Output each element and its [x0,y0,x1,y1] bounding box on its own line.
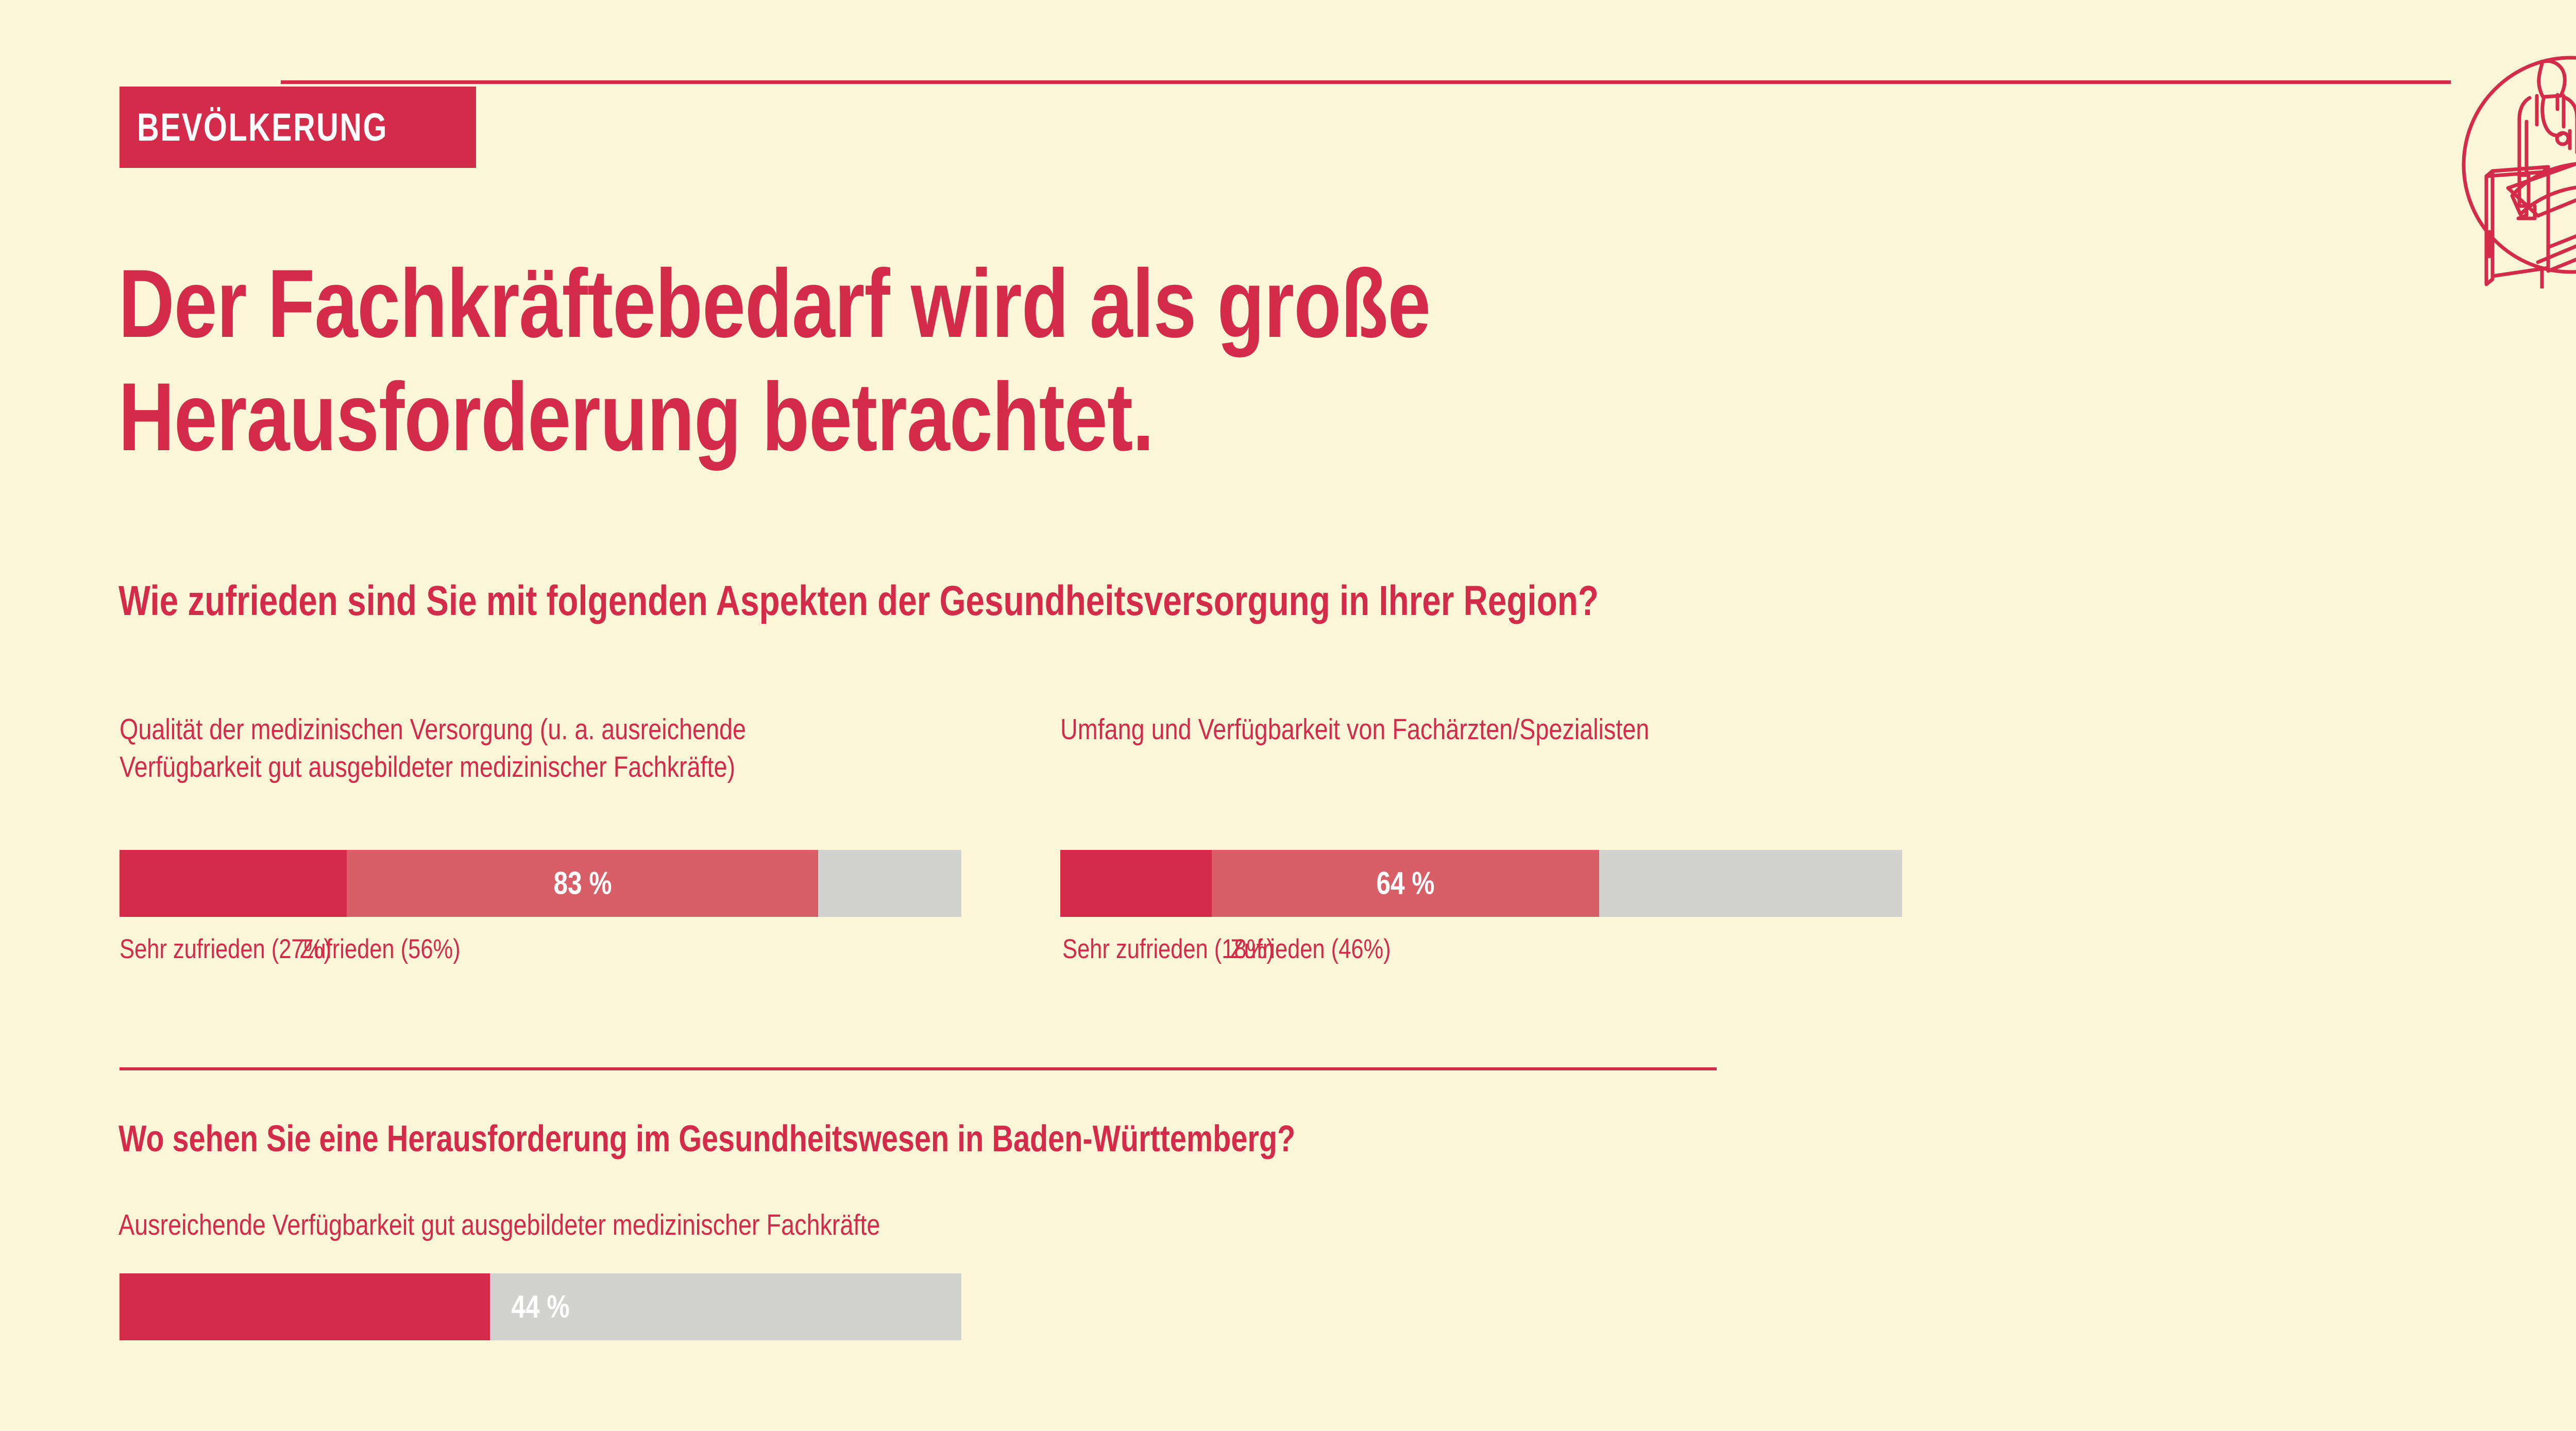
header-kicker-row: BEVÖLKERUNG [120,87,2576,179]
chart-right-label: Umfang und Verfügbarkeit von Fachärzten/… [1060,711,1936,748]
question-1: Wie zufrieden sind Sie mit folgenden Asp… [118,577,1599,625]
chart-left-label-line-2: Verfügbarkeit gut ausgebildeter medizini… [120,748,838,786]
headline-line-2: Herausforderung betrachtet. [118,361,1850,474]
chart-left-legend-satisfied: Zufrieden (56%) [300,933,461,965]
category-badge-label: BEVÖLKERUNG [137,105,388,150]
chart-column-right: Umfang und Verfügbarkeit von Fachärzten/… [1060,711,1936,748]
hospital-bed-nurse-icon [2446,41,2576,288]
chart-left-label-line-1: Qualität der medizinischen Versorgung (u… [120,711,838,748]
question-2: Wo sehen Sie eine Herausforderung im Ges… [118,1118,1295,1160]
chart-right-legend-satisfied: Zufrieden (46%) [1230,933,1391,965]
chart-bottom-segment-challenge: 44 % [120,1273,490,1340]
chart-left-bar: 83 % [120,850,961,917]
chart-left-segment-very-satisfied [120,850,347,917]
chart-bottom-total-value: 44 % [511,1289,569,1325]
chart-right-segment-very-satisfied [1060,850,1212,917]
chart-left-legend: Sehr zufrieden (27%) Zufrieden (56%) [120,933,995,969]
header-rule [281,80,2451,84]
chart-right-label-line-1: Umfang und Verfügbarkeit von Fachärzten/… [1060,711,1778,748]
chart-right-bar: 64 % [1060,850,1902,917]
section-divider [120,1067,1717,1070]
chart-right-legend: Sehr zufrieden (18%) Zufrieden (46%) [1060,933,1936,969]
chart-left-segment-remainder [818,850,961,917]
chart-right-total-value: 64 % [1376,865,1434,902]
chart-bottom-bar: 44 % [120,1273,961,1340]
chart-right-segment-remainder [1599,850,1902,917]
page-title: Der Fachkräftebedarf wird als große Hera… [118,247,2282,474]
chart-left-segment-satisfied: 83 % [347,850,818,917]
chart-left-label: Qualität der medizinischen Versorgung (u… [120,711,995,786]
infographic-page: BEVÖLKERUNG [0,0,2576,1431]
chart-column-left: Qualität der medizinischen Versorgung (u… [120,711,995,786]
headline-line-1: Der Fachkräftebedarf wird als große [118,247,1850,361]
chart-bottom-label: Ausreichende Verfügbarkeit gut ausgebild… [118,1208,880,1242]
chart-left-total-value: 83 % [553,865,612,902]
category-badge: BEVÖLKERUNG [120,87,476,168]
chart-right-segment-satisfied: 64 % [1212,850,1599,917]
